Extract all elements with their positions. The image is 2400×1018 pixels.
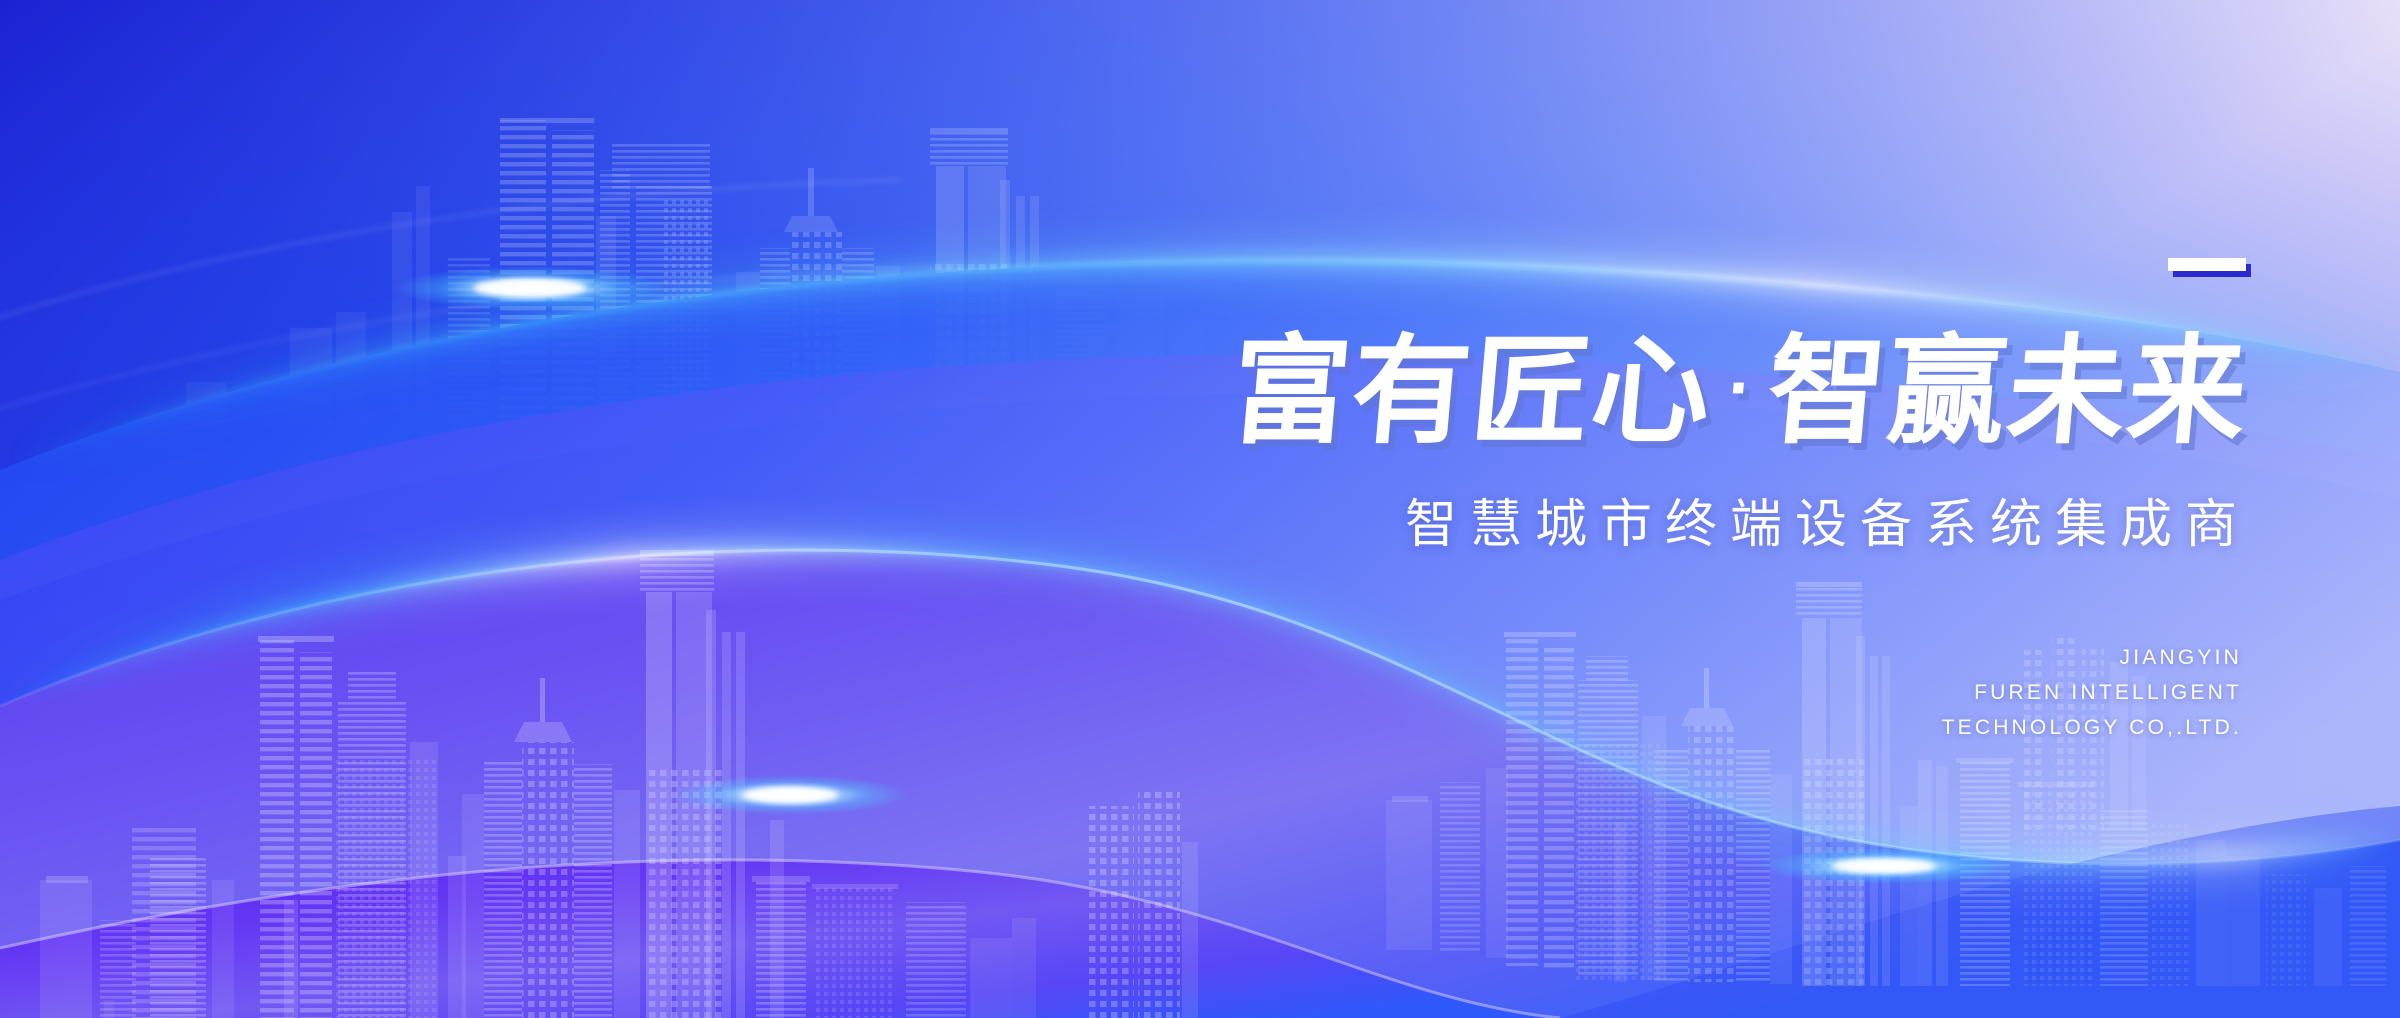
page-title: 富有匠心·智赢未来	[1067, 332, 2258, 452]
accent-dash-icon	[2168, 258, 2246, 271]
page-subtitle: 智慧城市终端设备系统集成商	[1072, 482, 2252, 557]
right-glow-arc	[1560, 800, 2400, 884]
headline-block: 富有匠心·智赢未来 智慧城市终端设备系统集成商 JIANGYIN FUREN I…	[1072, 258, 2252, 745]
main-title-left: 富有匠心	[1226, 326, 1718, 458]
brand-banner: 富有匠心·智赢未来 智慧城市终端设备系统集成商 JIANGYIN FUREN I…	[0, 0, 2400, 1018]
title-separator-dot: ·	[1709, 348, 1772, 428]
company-line-3: TECHNOLOGY CO,.LTD.	[1072, 711, 2242, 746]
company-line-2: FUREN INTELLIGENT	[1072, 676, 2242, 711]
company-name-english: JIANGYIN FUREN INTELLIGENT TECHNOLOGY CO…	[1072, 641, 2252, 745]
main-title-right: 智赢未来	[1762, 326, 2254, 458]
company-line-1: JIANGYIN	[1072, 641, 2242, 676]
